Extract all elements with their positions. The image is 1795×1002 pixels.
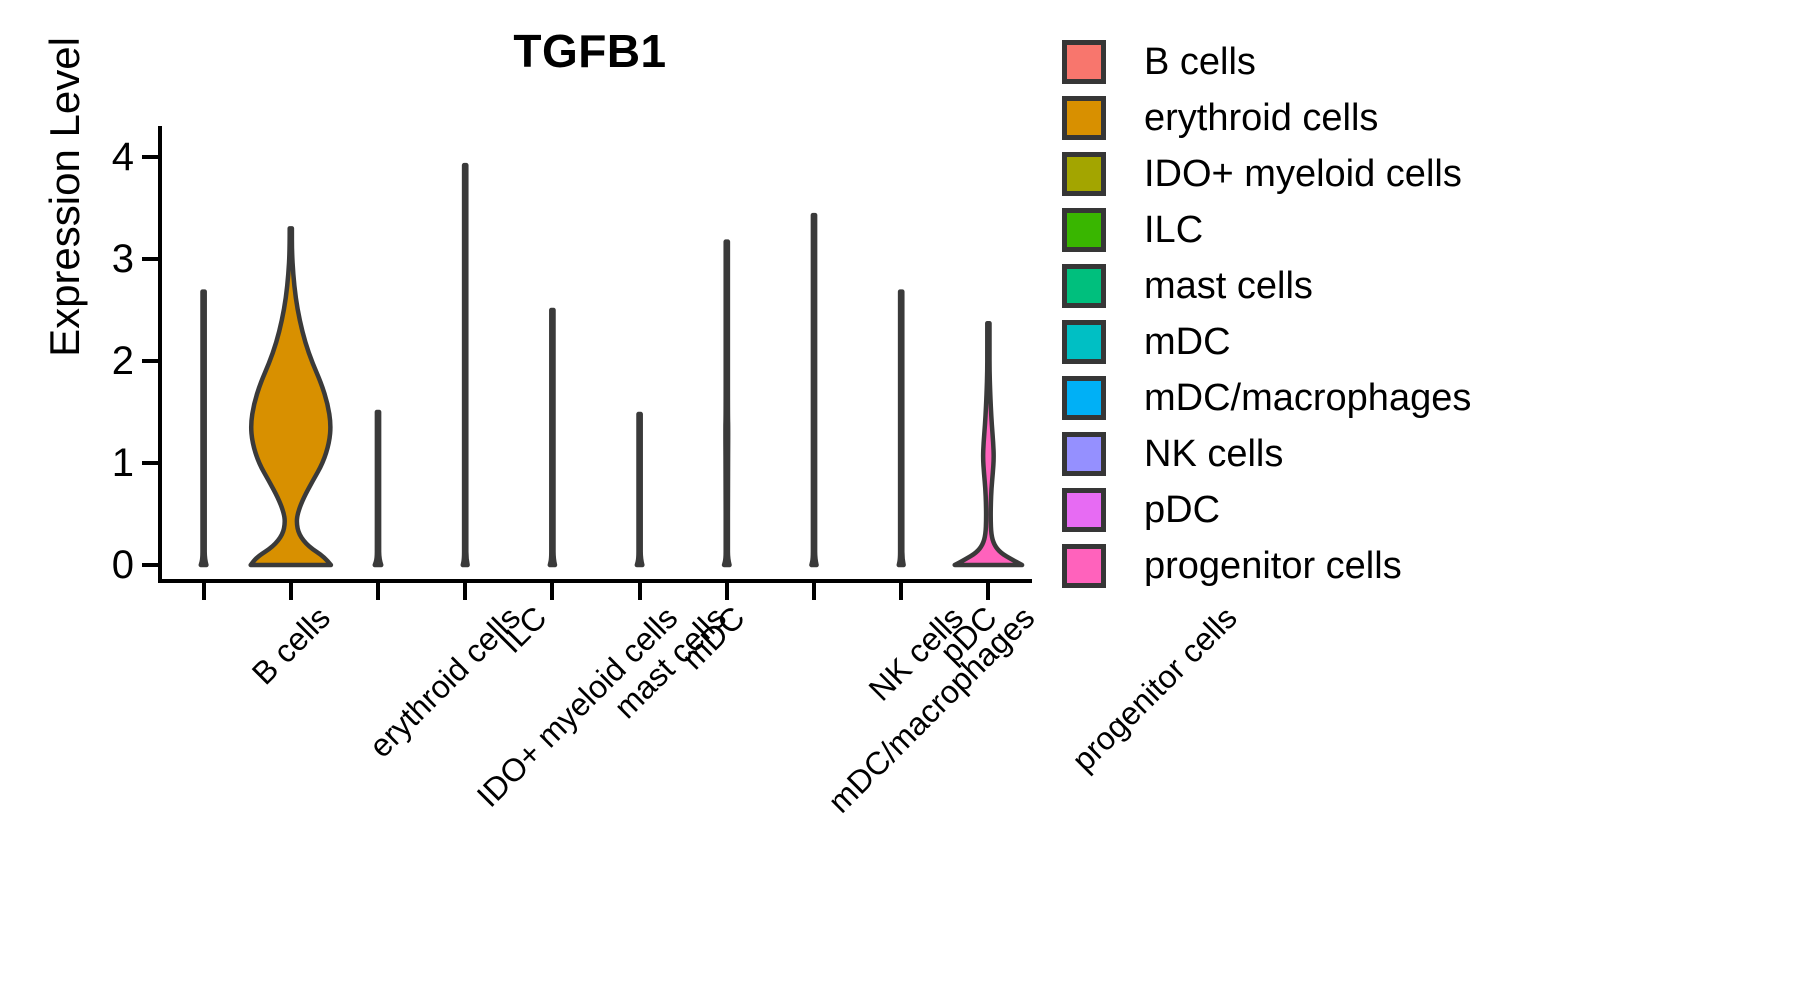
violin-body [375,412,381,565]
violin-ilc[interactable] [0,0,1045,1002]
legend-label: mast cells [1144,266,1313,306]
legend-item-pdc[interactable]: pDC [1062,482,1782,538]
y-tick-mark [142,155,158,159]
y-tick-mark [142,359,158,363]
plot-panel: TGFB1 Expression Level 01234 B cellseryt… [0,0,1045,1002]
legend: B cellserythroid cellsIDO+ myeloid cells… [1062,34,1782,594]
legend-item-erythroid-cells[interactable]: erythroid cells [1062,90,1782,146]
legend-label: mDC [1144,322,1231,362]
violin-mdc[interactable] [0,0,1045,1002]
violin-body [955,323,1022,565]
legend-item-b-cells[interactable]: B cells [1062,34,1782,90]
x-tick-mark [202,583,206,600]
legend-label: mDC/macrophages [1144,378,1471,418]
violin-body [724,242,729,565]
y-axis-title: Expression Level [43,0,87,397]
violin-body [899,292,904,565]
y-tick-label: 0 [84,545,134,585]
legend-item-nk-cells[interactable]: NK cells [1062,426,1782,482]
legend-swatch-icon [1062,320,1106,364]
x-tick-mark [463,583,467,600]
violin-body [463,165,468,565]
violin-b-cells[interactable] [0,0,1045,1002]
y-tick-label: 4 [84,137,134,177]
legend-label: erythroid cells [1144,98,1378,138]
y-tick-mark [142,257,158,261]
violin-body [201,292,207,565]
y-axis-line [158,126,162,583]
violin-body [550,310,555,565]
legend-label: B cells [1144,42,1256,82]
x-tick-mark [899,583,903,600]
violin-mast-cells[interactable] [0,0,1045,1002]
x-tick-label-progenitor-cells: progenitor cells [1066,600,1243,777]
legend-item-ido-myeloid-cells[interactable]: IDO+ myeloid cells [1062,146,1782,202]
page-title: TGFB1 [330,28,850,74]
violin-ido-myeloid-cells[interactable] [0,0,1045,1002]
legend-swatch-icon [1062,40,1106,84]
x-tick-mark [638,583,642,600]
legend-item-progenitor-cells[interactable]: progenitor cells [1062,538,1782,594]
legend-label: pDC [1144,490,1220,530]
x-tick-mark [376,583,380,600]
legend-swatch-icon [1062,264,1106,308]
legend-item-mdc-macrophages[interactable]: mDC/macrophages [1062,370,1782,426]
y-tick-mark [142,563,158,567]
violin-body [637,414,642,565]
violin-erythroid-cells[interactable] [0,0,1045,1002]
legend-label: NK cells [1144,434,1283,474]
legend-swatch-icon [1062,96,1106,140]
legend-swatch-icon [1062,544,1106,588]
y-tick-mark [142,461,158,465]
x-tick-mark [725,583,729,600]
legend-item-mast-cells[interactable]: mast cells [1062,258,1782,314]
legend-label: IDO+ myeloid cells [1144,154,1462,194]
violin-nk-cells[interactable] [0,0,1045,1002]
violin-progenitor-cells[interactable] [0,0,1045,1002]
violin-pdc[interactable] [0,0,1045,1002]
x-tick-mark [812,583,816,600]
violin-body [811,215,816,565]
legend-item-mdc[interactable]: mDC [1062,314,1782,370]
violin-mdc-macrophages[interactable] [0,0,1045,1002]
legend-swatch-icon [1062,432,1106,476]
legend-swatch-icon [1062,488,1106,532]
y-tick-label: 1 [84,443,134,483]
x-tick-mark [986,583,990,600]
x-tick-mark [550,583,554,600]
legend-swatch-icon [1062,376,1106,420]
x-tick-label-b-cells: B cells [245,600,336,691]
legend-swatch-icon [1062,208,1106,252]
legend-item-ilc[interactable]: ILC [1062,202,1782,258]
violin-plot-figure: TGFB1 Expression Level 01234 B cellseryt… [0,0,1795,1002]
legend-label: progenitor cells [1144,546,1402,586]
violin-body [251,228,331,565]
legend-label: ILC [1144,210,1203,250]
y-tick-label: 2 [84,341,134,381]
y-tick-label: 3 [84,239,134,279]
x-tick-mark [289,583,293,600]
legend-swatch-icon [1062,152,1106,196]
